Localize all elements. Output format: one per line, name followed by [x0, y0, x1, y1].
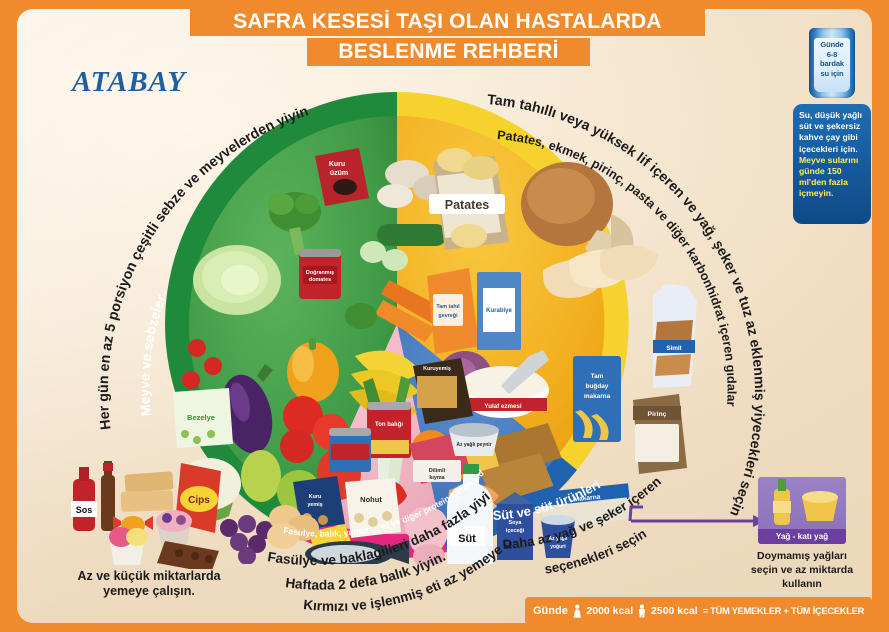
- svg-text:Süt: Süt: [458, 533, 476, 545]
- treats-svg: Sos Cips: [49, 449, 249, 569]
- svg-text:üzüm: üzüm: [330, 170, 348, 177]
- water-info-box: Su, düşük yağlı süt ve şekersiz kahve ça…: [793, 104, 871, 224]
- svg-text:Soya: Soya: [509, 520, 523, 526]
- dairy-yogurt-pot: Az yağlı yoğurt: [541, 515, 575, 558]
- man-icon: [638, 601, 646, 621]
- svg-text:Pirinç: Pirinç: [648, 411, 667, 418]
- svg-text:buğday: buğday: [586, 383, 609, 390]
- svg-text:Yulaf ezmesi: Yulaf ezmesi: [484, 403, 521, 410]
- svg-text:Cips: Cips: [188, 495, 210, 506]
- svg-text:Bezelye: Bezelye: [187, 413, 215, 422]
- info-line-4: Meyve sularını: [799, 155, 866, 166]
- info-line-0: Su, düşük yağlı: [799, 110, 866, 121]
- info-line-7: içmeyin.: [799, 188, 866, 199]
- fats-caption: Doymamış yağları seçin ve az miktarda ku…: [742, 549, 862, 591]
- treats-group: Sos Cips: [49, 449, 244, 599]
- veg-tomato-can: Doğranmış domates: [299, 249, 341, 299]
- svg-text:Az yağlı peynir: Az yağlı peynir: [456, 442, 491, 448]
- page-title-line2: BESLENME REHBERİ: [307, 38, 590, 66]
- svg-text:Kuru: Kuru: [309, 494, 322, 500]
- veg-pepper-green: [345, 303, 377, 329]
- kcal-male-value: 2500 kcal: [651, 605, 698, 617]
- starch-simit-bag: Simit: [653, 284, 697, 388]
- fats-image: [758, 477, 846, 529]
- glass-caption: Günde 6-8 bardak su için: [812, 40, 852, 78]
- kcal-female-value: 2000 kcal: [586, 605, 633, 617]
- fats-label: Yağ - katı yağ: [758, 529, 846, 544]
- protein-chickpeas-pack: Nohut: [345, 478, 401, 538]
- svg-text:Patates: Patates: [445, 198, 490, 212]
- starch-biscuit-box: Kurabiye: [477, 272, 521, 350]
- svg-text:Doğranmış: Doğranmış: [306, 270, 334, 276]
- fats-svg: [758, 477, 846, 529]
- brand-logo: ATABAY: [72, 66, 186, 99]
- svg-text:Kuruyemiş: Kuruyemiş: [423, 366, 451, 372]
- ketchup-bottle: Sos: [71, 467, 97, 531]
- dairy-soy-carton: Soya içeceği: [497, 492, 533, 560]
- dairy-cheese-tub: Az yağlı peynir: [449, 423, 499, 456]
- svg-text:makarna: makarna: [584, 393, 611, 400]
- svg-text:kıyma: kıyma: [429, 475, 445, 481]
- ice-cream: [109, 527, 148, 565]
- svg-text:Ton balığı: Ton balığı: [375, 422, 403, 428]
- sauce-bottle: [101, 461, 115, 531]
- starch-rice-bag: Pirinç: [633, 394, 687, 474]
- kcal-bar: Günde 2000 kcal 2500 kcal = TÜM YEMEKLER…: [525, 597, 872, 625]
- fats-group: Yağ - katı yağ Doymamış yağları seçin ve…: [758, 477, 846, 547]
- svg-text:Tam tahıl: Tam tahıl: [436, 304, 460, 310]
- chocolate-bar: [157, 541, 219, 569]
- water-glass: Günde 6-8 bardak su için: [806, 22, 858, 100]
- svg-text:Nohut: Nohut: [360, 495, 382, 504]
- veg-peas-pack: Bezelye: [173, 388, 233, 448]
- infographic-root: Kuru üzüm Doğranmış domates: [0, 0, 889, 632]
- butter-tub-icon: [802, 491, 838, 521]
- veg-cabbage: [193, 245, 281, 315]
- svg-text:Tam: Tam: [591, 373, 604, 380]
- treats-caption: Az ve küçük miktarlarda yemeye çalışın.: [49, 569, 249, 599]
- svg-text:Dilimli: Dilimli: [429, 468, 446, 474]
- starch-pasta-box: Tam buğday makarna: [573, 356, 621, 442]
- info-line-1: süt ve şekersiz: [799, 121, 866, 132]
- svg-text:Kurabiye: Kurabiye: [486, 308, 512, 314]
- woman-icon: [573, 601, 582, 621]
- svg-text:domates: domates: [309, 277, 331, 283]
- kcal-equals: = TÜM YEMEKLER + TÜM İÇECEKLER: [703, 606, 864, 616]
- biscuits: [121, 471, 174, 512]
- svg-text:Sos: Sos: [76, 505, 93, 515]
- info-line-3: içecekleri için.: [799, 144, 866, 155]
- poster-page: Kuru üzüm Doğranmış domates: [17, 9, 872, 623]
- svg-text:Az yağlı: Az yağlı: [549, 536, 569, 542]
- svg-text:yoğurt: yoğurt: [550, 544, 566, 550]
- protein-beans-can: [329, 428, 371, 472]
- kcal-prefix: Günde: [533, 605, 568, 617]
- info-line-6: ml'den fazla: [799, 177, 866, 188]
- svg-text:yemiş: yemiş: [307, 502, 322, 508]
- protein-tuna-can: Ton balığı: [367, 402, 411, 458]
- info-line-2: kahve çay gibi: [799, 132, 866, 143]
- oil-bottle-icon: [773, 479, 791, 525]
- svg-text:gevreği: gevreği: [438, 313, 458, 319]
- page-title-line1: SAFRA KESESİ TAŞI OLAN HASTALARDA: [190, 8, 705, 36]
- svg-text:Kuru: Kuru: [329, 161, 345, 168]
- svg-text:içeceği: içeceği: [506, 528, 525, 534]
- info-line-5: günde 150: [799, 166, 866, 177]
- svg-text:Simit: Simit: [666, 345, 682, 352]
